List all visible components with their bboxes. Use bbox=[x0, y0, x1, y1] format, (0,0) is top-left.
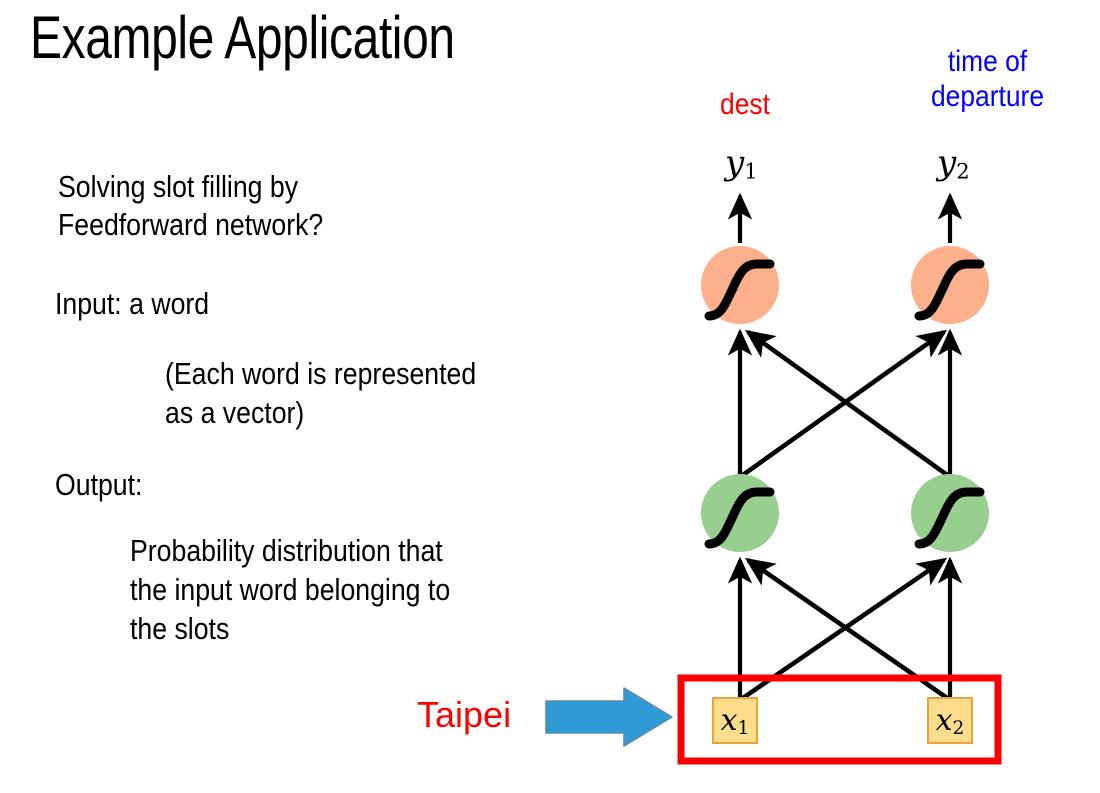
output-symbol: y bbox=[725, 143, 744, 183]
input-symbol: x bbox=[936, 703, 953, 738]
slot-label-time-of-departure: time of departure bbox=[893, 44, 1082, 114]
input-symbol: x bbox=[721, 703, 738, 738]
neural-network-diagram: dest time of departure y1 y2 x1 x2 Taipe… bbox=[0, 0, 1100, 793]
output-subscript: 2 bbox=[956, 159, 969, 184]
network-graphics bbox=[0, 0, 1100, 793]
edge-h2-o1 bbox=[748, 332, 950, 477]
input-cell-x2[interactable]: x2 bbox=[927, 697, 973, 744]
output-variable-y1: y1 bbox=[725, 143, 758, 184]
input-subscript: 2 bbox=[953, 718, 965, 739]
input-variable-x1: x1 bbox=[714, 699, 756, 751]
neuron-hidden-1[interactable] bbox=[701, 474, 779, 552]
input-variable-x2: x2 bbox=[929, 699, 971, 751]
block-arrow-icon bbox=[546, 688, 672, 746]
hidden-to-output-edges bbox=[740, 332, 950, 477]
neuron-hidden-2[interactable] bbox=[911, 474, 989, 552]
edge-h1-o2 bbox=[740, 332, 944, 477]
output-symbol: y bbox=[937, 143, 956, 183]
word-to-input-arrow bbox=[546, 688, 672, 746]
neuron-output-2[interactable] bbox=[911, 246, 989, 324]
output-layer-neurons bbox=[701, 246, 989, 324]
output-subscript: 1 bbox=[744, 159, 757, 184]
input-subscript: 1 bbox=[738, 718, 750, 739]
input-cell-x1[interactable]: x1 bbox=[712, 697, 758, 744]
neuron-output-1[interactable] bbox=[701, 246, 779, 324]
input-word-label: Taipei bbox=[417, 694, 511, 736]
output-variable-y2: y2 bbox=[937, 143, 970, 184]
slide-canvas: Example Application Solving slot filling… bbox=[0, 0, 1100, 793]
slot-label-dest: dest bbox=[675, 87, 816, 122]
output-arrows bbox=[740, 196, 950, 243]
hidden-layer-neurons bbox=[701, 474, 989, 552]
